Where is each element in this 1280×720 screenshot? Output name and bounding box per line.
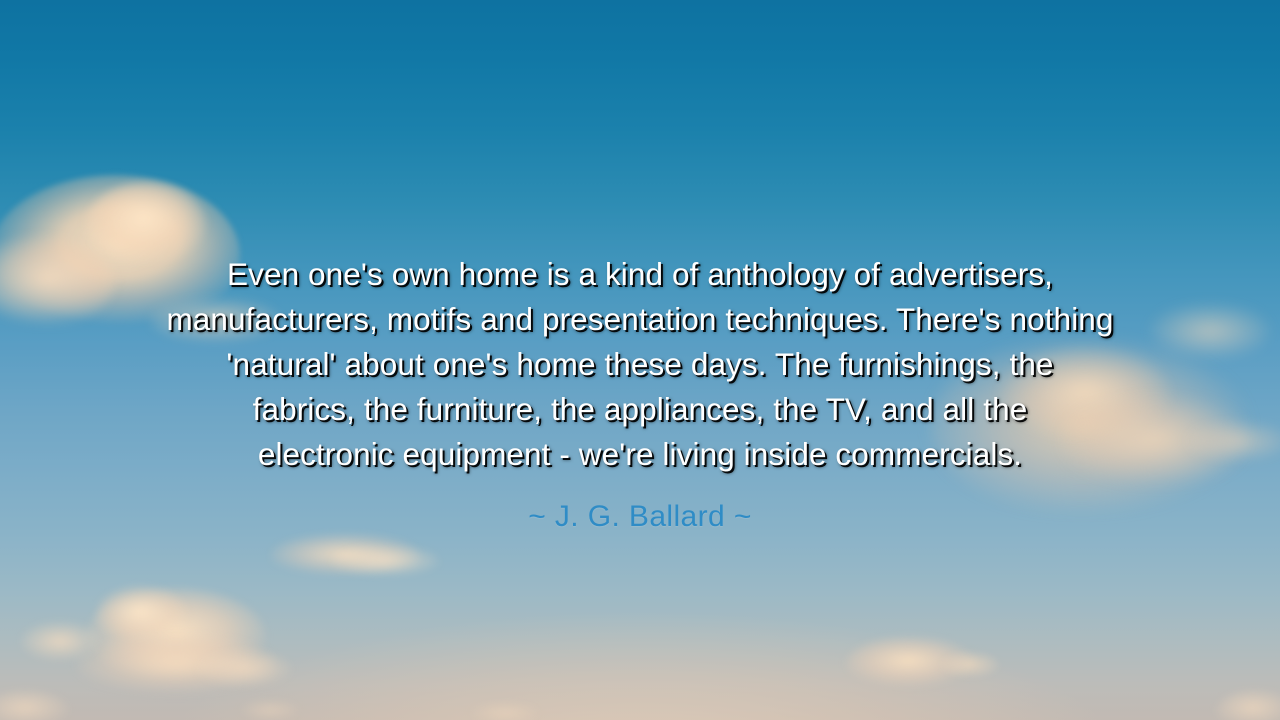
quote-image-scene: Even one's own home is a kind of antholo…: [0, 0, 1280, 720]
quote-text: Even one's own home is a kind of antholo…: [92, 252, 1188, 477]
quote-block: Even one's own home is a kind of antholo…: [92, 252, 1188, 477]
attribution-row: ~ J. G. Ballard ~: [0, 498, 1280, 536]
attribution-text: ~ J. G. Ballard ~: [528, 498, 752, 536]
